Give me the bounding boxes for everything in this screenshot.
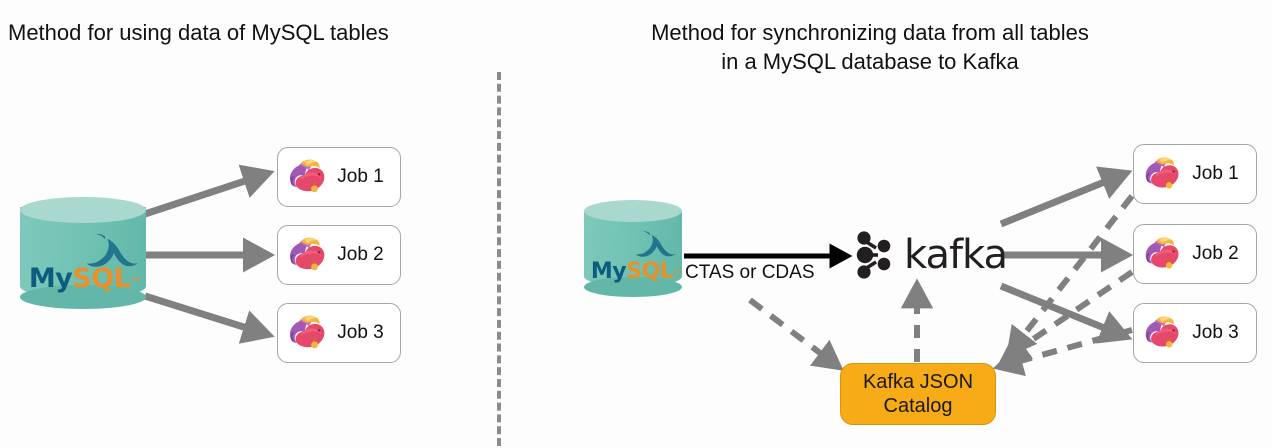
left-job-label-1: Job 1 [327, 166, 400, 188]
right-mysql-database: MySQL™ [584, 200, 682, 297]
left-job-box-2[interactable]: Job 2 [277, 225, 401, 285]
edge-left-db-to-job1 [145, 174, 266, 214]
flink-squirrel-icon [285, 312, 327, 354]
catalog-label-line2: Catalog [884, 394, 953, 418]
edge-left-db-to-job3 [145, 296, 266, 334]
mysql-wordmark: MySQL™ [29, 263, 141, 294]
kafka-nodes-icon [854, 228, 894, 282]
flink-squirrel-icon [1141, 313, 1181, 353]
left-job-box-3[interactable]: Job 3 [277, 303, 401, 363]
edge-right-kafka-to-job1 [1001, 174, 1124, 224]
right-job-label-3: Job 3 [1181, 322, 1256, 344]
edge-right-db-to-catalog [750, 300, 836, 365]
cylinder-top [584, 200, 682, 222]
right-job-label-1: Job 1 [1181, 163, 1256, 185]
kafka-wordmark: kafka [904, 232, 1007, 278]
flink-squirrel-icon [285, 156, 327, 198]
cylinder-top [20, 197, 146, 223]
left-job-label-2: Job 2 [327, 244, 400, 266]
mysql-dolphin-icon [632, 229, 677, 259]
flink-squirrel-icon [1141, 154, 1181, 194]
right-job-box-1[interactable]: Job 1 [1133, 144, 1257, 204]
ctas-cdas-edge-label: CTAS or CDAS [685, 262, 815, 284]
left-job-label-3: Job 3 [327, 322, 400, 344]
flink-squirrel-icon [1141, 234, 1181, 274]
right-job-label-2: Job 2 [1181, 243, 1256, 265]
kafka-logo: kafka [854, 228, 1007, 282]
flink-squirrel-icon [285, 234, 327, 276]
left-job-box-1[interactable]: Job 1 [277, 147, 401, 207]
mysql-wordmark: MySQL™ [591, 259, 682, 284]
edge-right-job1-to-catalog [1012, 196, 1132, 350]
catalog-label-line1: Kafka JSON [863, 370, 973, 394]
right-job-box-3[interactable]: Job 3 [1133, 303, 1257, 363]
left-mysql-database: MySQL™ [20, 197, 146, 309]
right-job-box-2[interactable]: Job 2 [1133, 224, 1257, 284]
kafka-json-catalog-box[interactable]: Kafka JSON Catalog [840, 363, 996, 425]
diagram-canvas: Method for using data of MySQL tables Me… [0, 0, 1272, 448]
